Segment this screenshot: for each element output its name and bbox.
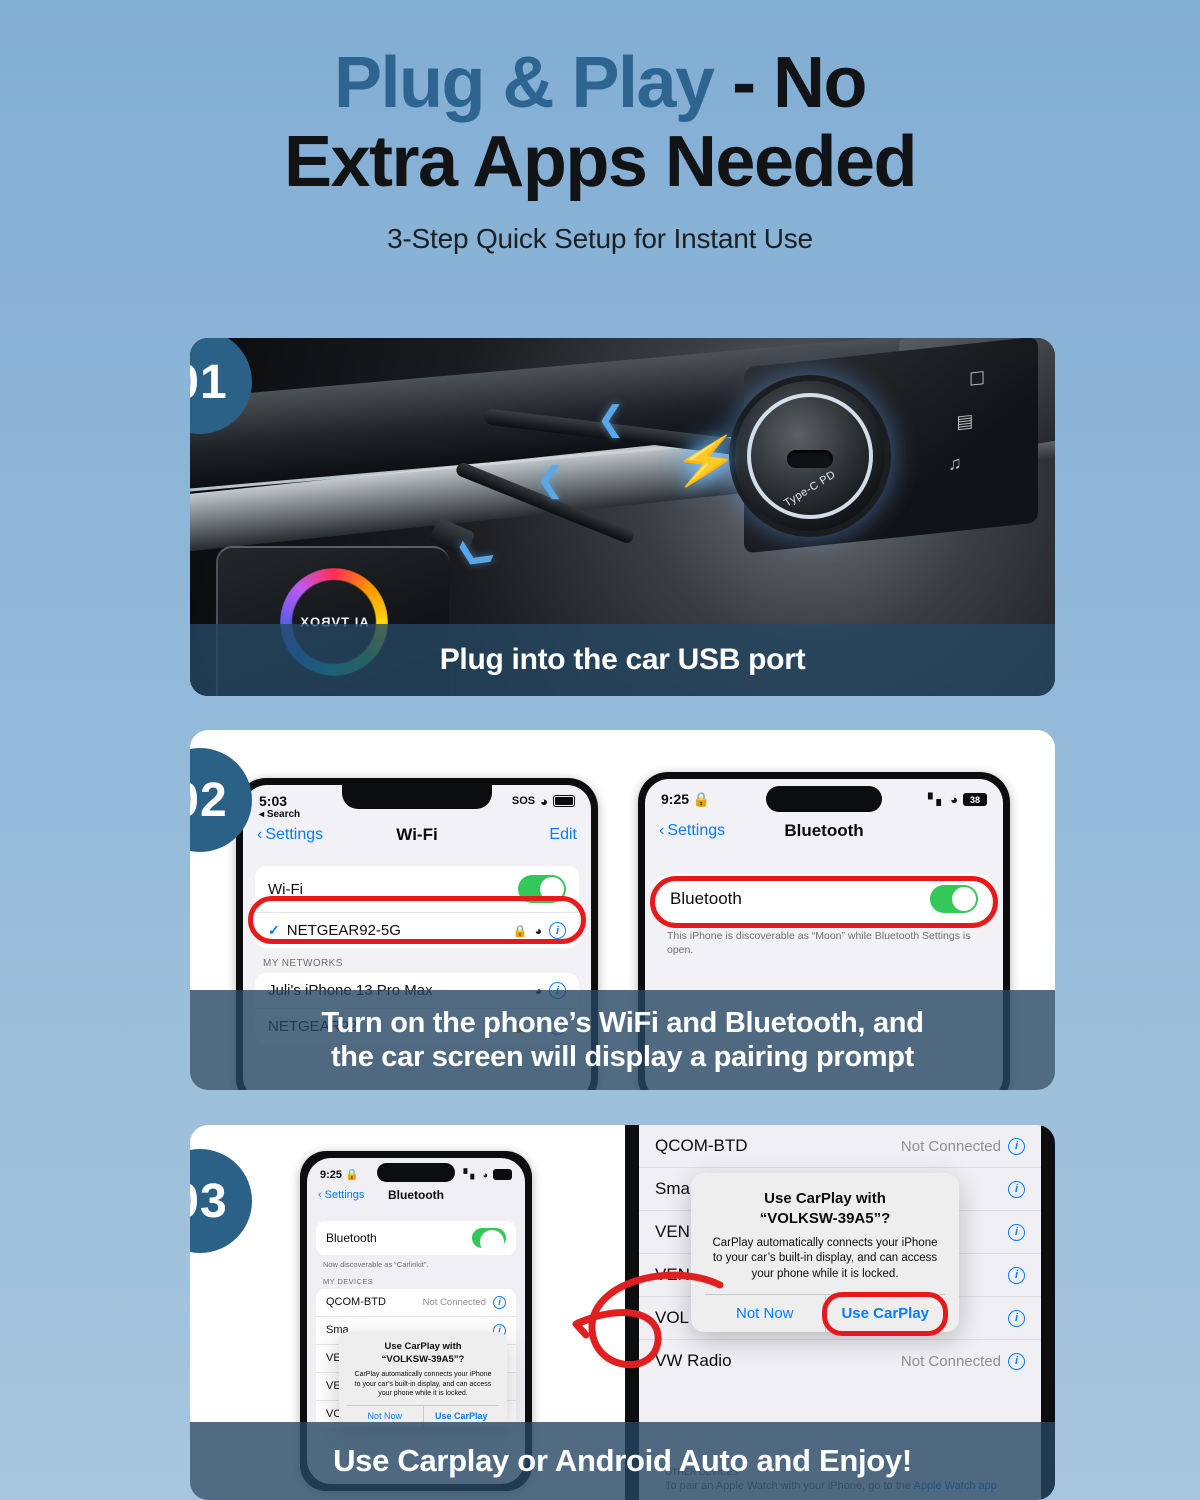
zoom-device-name: VEN	[655, 1265, 690, 1285]
step-card-2: 5:03 SOS ◕ ◂ Search ‹ Settings Wi-Fi Edi…	[190, 730, 1055, 1090]
status-icons-bt: ▘▖ ◕ 38	[928, 792, 987, 807]
step-caption-2-text: Turn on the phone’s WiFi and Bluetooth, …	[321, 1006, 923, 1074]
status-icons-step3: ▘▖ ◕	[464, 1169, 512, 1180]
battery-percent-bt: 38	[963, 793, 987, 806]
nav-edit-button-wifi[interactable]: Edit	[549, 826, 577, 844]
flow-arrow-2: ❮	[536, 460, 565, 500]
step-caption-1: Plug into the car USB port	[190, 624, 1055, 696]
bluetooth-discoverable-note: This iPhone is discoverable as “Moon” wh…	[645, 924, 1003, 958]
wifi-toggle-label: Wi-Fi	[268, 881, 303, 898]
bluetooth-group-step3: Bluetooth	[316, 1221, 516, 1255]
bluetooth-toggle-row-step3[interactable]: Bluetooth	[316, 1221, 516, 1255]
nav-bar-wifi: ‹ Settings Wi-Fi Edit	[243, 820, 591, 854]
nav-title-step3: Bluetooth	[307, 1188, 525, 1202]
use-carplay-button[interactable]: Use CarPlay	[826, 1295, 946, 1332]
status-time-wifi: 5:03	[259, 793, 287, 809]
car-charger: Type-C PD	[735, 381, 885, 531]
cellular-icon: ▘▖	[928, 793, 945, 806]
lock-icon: 🔒	[513, 924, 528, 938]
zoom-device-name: QCOM-BTD	[655, 1136, 748, 1156]
cellular-icon-step3: ▘▖	[464, 1169, 478, 1180]
headline-rest: - No	[714, 43, 866, 123]
carplay-dialog-actions: Not Now Use CarPlay	[705, 1294, 945, 1332]
info-icon-zoom[interactable]: i	[1008, 1267, 1025, 1284]
device-status: Not Connected	[423, 1297, 486, 1308]
carplay-dialog-mini-title-2: “VOLKSW-39A5”?	[347, 1354, 499, 1367]
phone-notch-wifi	[342, 785, 492, 809]
headline-accent: Plug & Play	[334, 43, 714, 123]
status-time-step3: 9:25 🔒	[320, 1168, 359, 1181]
seat-heat-icon: ♫	[948, 453, 962, 475]
step-caption-2-line1: Turn on the phone’s WiFi and Bluetooth, …	[321, 1006, 923, 1040]
step-badge-3: 03	[190, 1149, 252, 1253]
step-card-3: 9:25 🔒 ▘▖ ◕ ‹ Settings Bluetooth Bluetoo…	[190, 1125, 1055, 1500]
wifi-network-connected-row[interactable]: ✓ NETGEAR92-5G 🔒 ◕ i	[255, 912, 579, 948]
info-icon-zoom[interactable]: i	[1008, 1310, 1025, 1327]
zoom-device-name: VW Radio	[655, 1351, 732, 1371]
step-caption-3: Use Carplay or Android Auto and Enjoy!	[190, 1422, 1055, 1500]
wifi-strength-icon: ◕	[535, 924, 542, 938]
status-back-label-wifi: ◂ Search	[243, 809, 591, 820]
zoom-device-row[interactable]: VW Radio Not Connected i	[639, 1339, 1041, 1382]
status-icons-wifi: SOS ◕	[512, 794, 575, 809]
wifi-icon-step3: ◕	[483, 1170, 488, 1180]
page-subtitle: 3-Step Quick Setup for Instant Use	[0, 223, 1200, 255]
headline-line-1: Plug & Play - No	[0, 48, 1200, 119]
sos-indicator: SOS	[512, 795, 535, 807]
info-icon-zoom[interactable]: i	[1008, 1138, 1025, 1155]
info-icon-zoom[interactable]: i	[1008, 1181, 1025, 1198]
step-caption-3-text: Use Carplay or Android Auto and Enjoy!	[333, 1443, 912, 1480]
step-caption-2: Turn on the phone’s WiFi and Bluetooth, …	[190, 990, 1055, 1090]
carplay-dialog-title-2: “VOLKSW-39A5”?	[705, 1209, 945, 1229]
bluetooth-toggle-label: Bluetooth	[670, 889, 742, 909]
discoverable-note-step3: Now discoverable as “Carlinkit”.	[307, 1255, 525, 1270]
lightning-bolt-icon: ⚡	[670, 427, 743, 496]
zoom-device-right: Not Connected i	[901, 1353, 1025, 1370]
status-time-bt: 9:25 🔒	[661, 791, 710, 808]
info-icon-zoom[interactable]: i	[1008, 1224, 1025, 1241]
wifi-toggle-row[interactable]: Wi-Fi	[255, 866, 579, 912]
nav-bar-bt: ‹ Settings Bluetooth	[645, 808, 1003, 850]
headline-line-2: Extra Apps Needed	[0, 127, 1200, 198]
bluetooth-toggle-switch-step3[interactable]	[472, 1228, 506, 1248]
status-time-bt-text: 9:25	[661, 791, 689, 807]
device-row-right: Not Connected i	[423, 1296, 506, 1309]
my-networks-section-header: MY NETWORKS	[243, 948, 591, 973]
carplay-dialog-body: CarPlay automatically connects your iPho…	[705, 1236, 945, 1295]
status-time-step3-text: 9:25	[320, 1169, 342, 1181]
zoom-device-right: Not Connected i	[901, 1138, 1025, 1155]
bluetooth-toggle-switch[interactable]	[930, 885, 978, 913]
info-icon-device[interactable]: i	[493, 1296, 506, 1309]
device-row[interactable]: QCOM-BTD Not Connected i	[316, 1289, 516, 1316]
checkmark-icon: ✓	[268, 922, 280, 939]
step-caption-1-text: Plug into the car USB port	[440, 642, 806, 677]
battery-icon-wifi	[553, 795, 575, 807]
zoom-device-status: Not Connected	[901, 1138, 1001, 1155]
carplay-dialog-mini-body: CarPlay automatically connects your iPho…	[347, 1370, 499, 1405]
not-now-button[interactable]: Not Now	[705, 1295, 825, 1332]
zoom-device-row[interactable]: QCOM-BTD Not Connected i	[639, 1125, 1041, 1167]
info-icon[interactable]: i	[549, 922, 566, 939]
step-card-1: ☐ ▤ ♫ Type-C PD ⚡ ❮ ❮ ❮ AI TVBOX 01 Plug…	[190, 338, 1055, 696]
my-devices-header-step3: MY DEVICES	[307, 1270, 525, 1289]
bluetooth-toggle-label-step3: Bluetooth	[326, 1231, 377, 1245]
zoom-device-name: VOL	[655, 1308, 689, 1328]
dynamic-island-bt	[766, 786, 882, 812]
nav-bar-step3: ‹ Settings Bluetooth	[307, 1181, 525, 1207]
device-name: QCOM-BTD	[326, 1296, 386, 1308]
rear-defog-icon: ▤	[956, 411, 973, 434]
wifi-icon-bt: ◕	[950, 792, 958, 807]
zoom-device-name: VEN	[655, 1222, 690, 1242]
carplay-dialog-title-1: Use CarPlay with	[705, 1189, 945, 1209]
dynamic-island-step3	[377, 1163, 455, 1182]
info-icon-zoom[interactable]: i	[1008, 1353, 1025, 1370]
battery-icon-step3	[493, 1169, 512, 1180]
nav-title-bt: Bluetooth	[645, 821, 1003, 841]
flow-arrow-1: ❮	[597, 399, 626, 439]
carplay-dialog: Use CarPlay with “VOLKSW-39A5”? CarPlay …	[691, 1173, 959, 1332]
page-header: Plug & Play - No Extra Apps Needed 3-Ste…	[0, 0, 1200, 255]
bluetooth-toggle-row[interactable]: Bluetooth	[657, 874, 991, 924]
defrost-icon: ☐	[969, 368, 985, 391]
wifi-settings-group: Wi-Fi ✓ NETGEAR92-5G 🔒 ◕ i	[255, 866, 579, 948]
status-back-text-wifi: Search	[267, 809, 300, 820]
zoom-device-name: Sma	[655, 1179, 690, 1199]
carplay-dialog-mini-title-1: Use CarPlay with	[347, 1341, 499, 1354]
nav-title-wifi: Wi-Fi	[243, 825, 591, 845]
wifi-toggle-switch[interactable]	[518, 875, 566, 903]
wifi-row-icons: 🔒 ◕ i	[513, 922, 566, 939]
charger-type-c-port	[787, 450, 833, 468]
zoom-device-status: Not Connected	[901, 1353, 1001, 1370]
bluetooth-settings-group: Bluetooth	[657, 874, 991, 924]
carplay-dialog-mini: Use CarPlay with “VOLKSW-39A5”? CarPlay …	[339, 1332, 507, 1426]
step-caption-2-line2: the car screen will display a pairing pr…	[321, 1040, 923, 1074]
wifi-network-name: NETGEAR92-5G	[287, 922, 401, 939]
wifi-signal-icon: ◕	[540, 794, 548, 809]
